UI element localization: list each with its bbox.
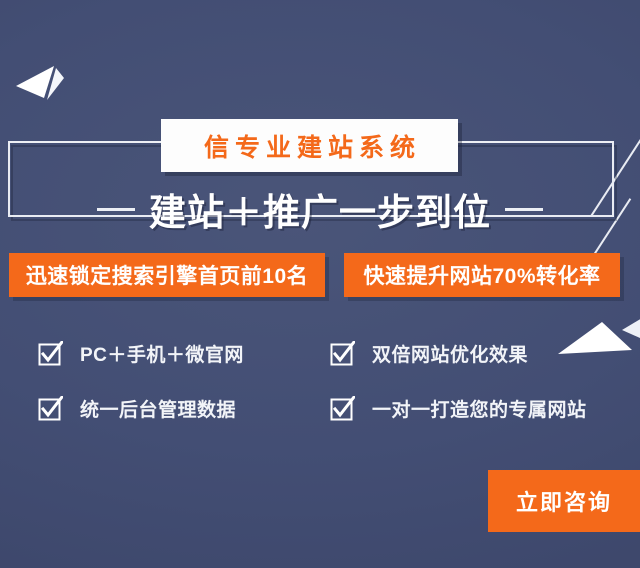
headline-row: 建站＋推广一步到位 (0, 179, 640, 239)
feature-label: PC＋手机＋微官网 (80, 340, 244, 367)
consult-now-button[interactable]: 立即咨询 (488, 470, 640, 532)
checkbox-checked-icon (38, 396, 63, 421)
checkbox-checked-icon (330, 341, 355, 366)
title-badge-panel: 信专业建站系统 (161, 119, 458, 172)
checkbox-checked-icon (330, 396, 355, 421)
feature-label: 统一后台管理数据 (80, 395, 236, 422)
feature-item: 一对一打造您的专属网站 (330, 381, 638, 436)
feature-label: 双倍网站优化效果 (372, 340, 528, 367)
checkbox-checked-icon (38, 341, 63, 366)
feature-label: 一对一打造您的专属网站 (372, 395, 587, 422)
stat-bar-ranking: 迅速锁定搜索引擎首页前10名 (9, 253, 325, 297)
feature-item: PC＋手机＋微官网 (38, 326, 330, 381)
feature-item: 统一后台管理数据 (38, 381, 330, 436)
title-badge: 信专业建站系统 (161, 119, 458, 172)
page-title: 建站＋推广一步到位 (149, 182, 491, 236)
stat-bar-conversion-label: 快速提升网站70%转化率 (363, 260, 600, 290)
stat-bar-ranking-label: 迅速锁定搜索引擎首页前10名 (26, 260, 308, 290)
paper-plane-left-icon (14, 62, 72, 110)
stat-bar-group: 迅速锁定搜索引擎首页前10名 快速提升网站70%转化率 (0, 253, 640, 297)
feature-list: PC＋手机＋微官网 双倍网站优化效果 统一后台管理数据 一对一打造您的专属网站 (38, 326, 638, 436)
headline-rule-right (505, 208, 543, 211)
title-badge-text: 信专业建站系统 (198, 128, 421, 164)
feature-item: 双倍网站优化效果 (330, 326, 638, 381)
promo-banner: 信专业建站系统 建站＋推广一步到位 迅速锁定搜索引擎首页前10名 快速提升网站7… (0, 0, 640, 568)
headline-rule-left (97, 208, 135, 211)
stat-bar-conversion: 快速提升网站70%转化率 (344, 253, 620, 297)
